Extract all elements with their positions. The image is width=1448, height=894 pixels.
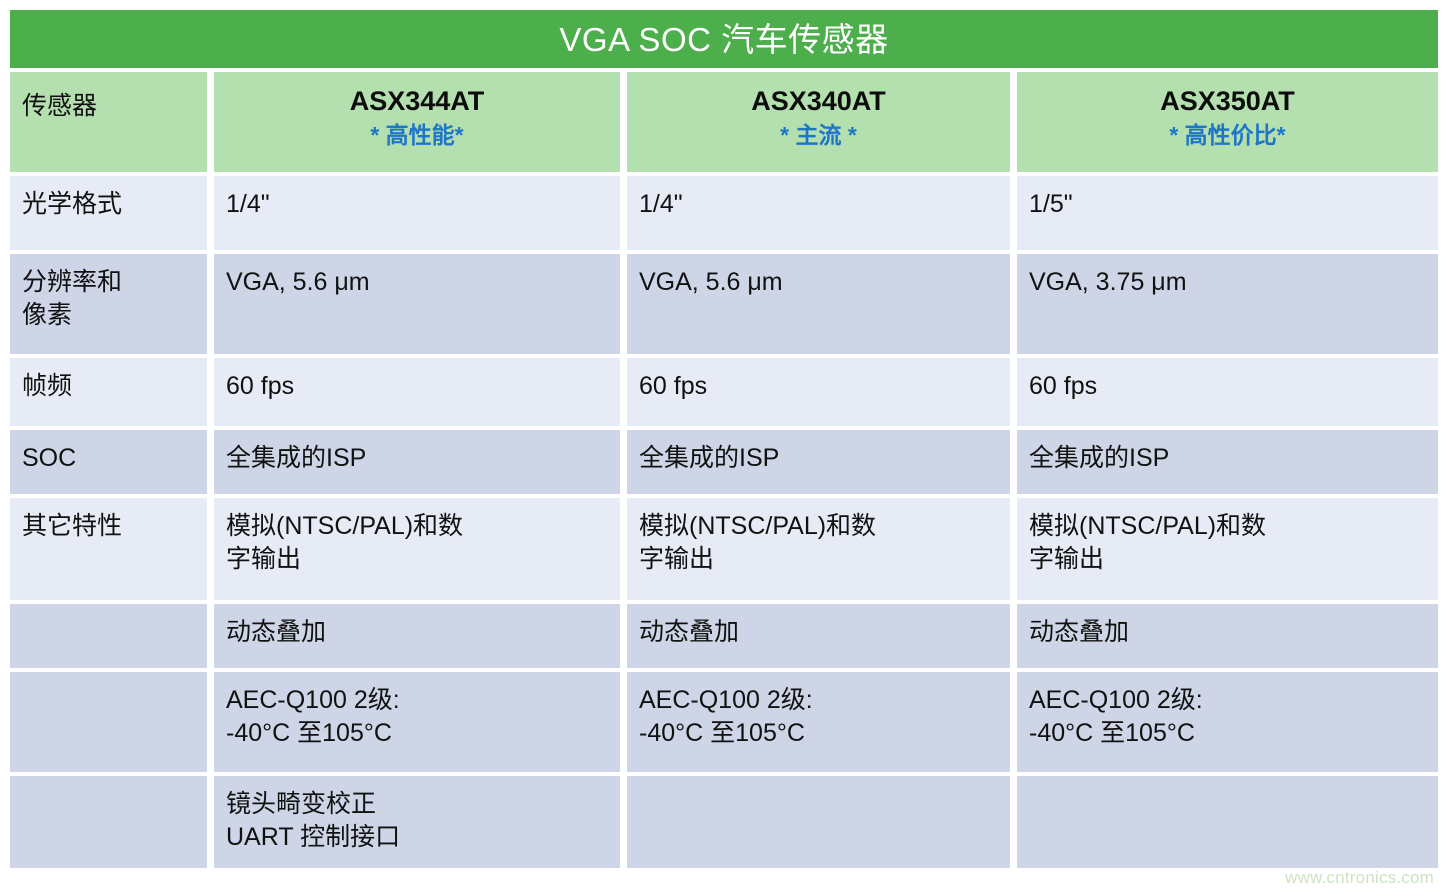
column-header-asx344at: ASX344AT* 高性能* — [214, 72, 620, 172]
table-cell: AEC-Q100 2级: -40°C 至105°C — [627, 672, 1010, 772]
table-cell: VGA, 5.6 μm — [214, 254, 620, 354]
row-label: 帧频 — [10, 358, 207, 426]
table-cell: 1/5" — [1017, 176, 1438, 250]
column-header-asx350at: ASX350AT* 高性价比* — [1017, 72, 1438, 172]
part-tagline: * 高性能* — [214, 118, 620, 153]
table-cell: 镜头畸变校正 UART 控制接口 — [214, 776, 620, 868]
table-cell: 全集成的ISP — [214, 430, 620, 494]
table-cell: 模拟(NTSC/PAL)和数 字输出 — [1017, 498, 1438, 600]
table-cell: 60 fps — [1017, 358, 1438, 426]
table-cell — [627, 776, 1010, 868]
table-cell: 动态叠加 — [627, 604, 1010, 668]
site-watermark: www.cntronics.com — [1285, 868, 1434, 888]
part-number: ASX340AT — [627, 86, 1010, 118]
table-cell: VGA, 3.75 μm — [1017, 254, 1438, 354]
part-tagline: * 主流 * — [627, 118, 1010, 153]
page-title: VGA SOC 汽车传感器 — [559, 23, 888, 56]
table-cell: AEC-Q100 2级: -40°C 至105°C — [214, 672, 620, 772]
table-cell: 动态叠加 — [214, 604, 620, 668]
table-cell: 全集成的ISP — [627, 430, 1010, 494]
part-tagline: * 高性价比* — [1017, 118, 1438, 153]
table-corner-label: 传感器 — [10, 72, 207, 172]
table-cell: 1/4" — [627, 176, 1010, 250]
row-label: 分辨率和 像素 — [10, 254, 207, 354]
table-cell: 模拟(NTSC/PAL)和数 字输出 — [214, 498, 620, 600]
row-label — [10, 776, 207, 868]
part-number: ASX344AT — [214, 86, 620, 118]
row-label — [10, 604, 207, 668]
part-number: ASX350AT — [1017, 86, 1438, 118]
row-label: 其它特性 — [10, 498, 207, 600]
row-label: SOC — [10, 430, 207, 494]
table-cell: 全集成的ISP — [1017, 430, 1438, 494]
column-header-asx340at: ASX340AT* 主流 * — [627, 72, 1010, 172]
table-cell: 60 fps — [627, 358, 1010, 426]
table-cell: 模拟(NTSC/PAL)和数 字输出 — [627, 498, 1010, 600]
table-cell: VGA, 5.6 μm — [627, 254, 1010, 354]
row-label — [10, 672, 207, 772]
table-cell: 1/4" — [214, 176, 620, 250]
row-label: 光学格式 — [10, 176, 207, 250]
table-cell — [1017, 776, 1438, 868]
slide-root: VGA SOC 汽车传感器 传感器ASX344AT* 高性能*ASX340AT*… — [0, 0, 1448, 894]
table-cell: AEC-Q100 2级: -40°C 至105°C — [1017, 672, 1438, 772]
table-cell: 60 fps — [214, 358, 620, 426]
table-cell: 动态叠加 — [1017, 604, 1438, 668]
slide-title-banner: VGA SOC 汽车传感器 — [10, 10, 1438, 68]
comparison-table: 传感器ASX344AT* 高性能*ASX340AT* 主流 *ASX350AT*… — [10, 72, 1438, 878]
